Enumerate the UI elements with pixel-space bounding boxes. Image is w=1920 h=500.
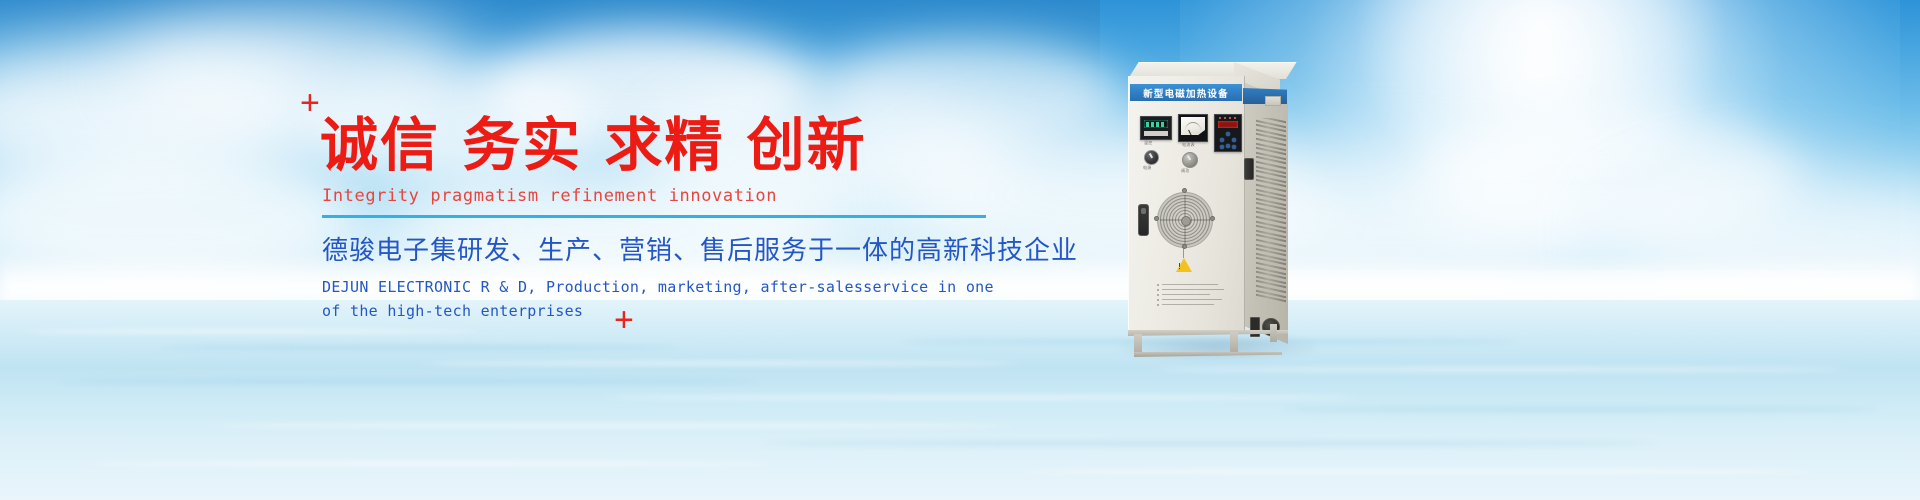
spec-bullet bbox=[1157, 294, 1159, 296]
machine-top-vent-box bbox=[1265, 96, 1281, 106]
inverter-keypad-panel[interactable] bbox=[1214, 114, 1242, 152]
promo-banner: + + 诚信 务实 求精 创新 Integrity pragmatism ref… bbox=[0, 0, 1920, 500]
warning-hook-line bbox=[1183, 246, 1184, 258]
decor-plus-icon: + bbox=[300, 86, 320, 120]
keypad-button[interactable] bbox=[1226, 132, 1230, 136]
fan-hub bbox=[1181, 216, 1191, 226]
section-divider bbox=[322, 215, 986, 218]
banner-description-english: DEJUN ELECTRONIC R & D, Production, mark… bbox=[322, 275, 994, 323]
wave bbox=[1020, 470, 1820, 473]
power-knob-caption: 电源 bbox=[1143, 165, 1152, 171]
fan-screw bbox=[1154, 216, 1159, 221]
gauge-face bbox=[1181, 117, 1205, 135]
fan-screw bbox=[1210, 216, 1215, 221]
keypad-led-display bbox=[1218, 121, 1238, 128]
keypad-button[interactable] bbox=[1226, 144, 1230, 148]
digital-controller-display[interactable] bbox=[1140, 116, 1172, 140]
warning-exclamation-icon: ! bbox=[1178, 263, 1181, 271]
side-door-handle[interactable] bbox=[1244, 158, 1254, 180]
spec-bullet bbox=[1157, 299, 1159, 301]
controller-screen bbox=[1144, 120, 1168, 128]
analog-ammeter-gauge bbox=[1178, 114, 1208, 142]
machine-product-label-text: 新型电磁加热设备 bbox=[1143, 86, 1229, 100]
keypad-button[interactable] bbox=[1220, 145, 1224, 149]
spec-bullet bbox=[1157, 284, 1159, 286]
handle-grip bbox=[1141, 208, 1146, 214]
spec-bullet bbox=[1157, 289, 1159, 291]
keypad-button[interactable] bbox=[1232, 145, 1236, 149]
keypad-button[interactable] bbox=[1232, 138, 1236, 142]
description-english-line-1: DEJUN ELECTRONIC R & D, Production, mark… bbox=[322, 275, 994, 299]
power-adjust-knob[interactable] bbox=[1182, 152, 1198, 168]
controller-button-row[interactable] bbox=[1144, 131, 1168, 136]
keypad-button[interactable] bbox=[1220, 138, 1224, 142]
machine-foot bbox=[1270, 324, 1277, 342]
banner-description-chinese: 德骏电子集研发、生产、营销、售后服务于一体的高新科技企业 bbox=[322, 234, 1078, 269]
description-english-line-2: of the high-tech enterprises bbox=[322, 299, 994, 323]
wave bbox=[1280, 408, 1880, 411]
knob-indicator-mark bbox=[1148, 153, 1152, 158]
adjust-knob-caption: 调功 bbox=[1181, 168, 1190, 174]
power-selector-knob[interactable] bbox=[1144, 150, 1159, 165]
front-left-handle bbox=[1138, 204, 1149, 236]
product-image-heating-machine: 新型电磁加热设备 温控 电流表 bbox=[1126, 62, 1306, 362]
machine-spec-text-block bbox=[1162, 284, 1224, 309]
machine-product-label: 新型电磁加热设备 bbox=[1130, 84, 1242, 101]
side-ventilation-louvers bbox=[1256, 118, 1286, 308]
banner-tagline-english: Integrity pragmatism refinement innovati… bbox=[322, 186, 777, 206]
digital-controller-caption: 温控 bbox=[1144, 140, 1153, 146]
banner-text-block: + + 诚信 务实 求精 创新 Integrity pragmatism ref… bbox=[0, 0, 1100, 500]
analog-meter-caption: 电流表 bbox=[1182, 142, 1195, 148]
spec-bullet bbox=[1157, 304, 1159, 306]
knob-indicator-mark bbox=[1187, 155, 1191, 160]
machine-foot bbox=[1230, 332, 1238, 354]
banner-headline: 诚信 务实 求精 创新 bbox=[320, 116, 867, 174]
wave bbox=[1150, 368, 1850, 371]
fan-screw bbox=[1182, 188, 1187, 193]
cooling-fan-grille bbox=[1157, 192, 1213, 248]
